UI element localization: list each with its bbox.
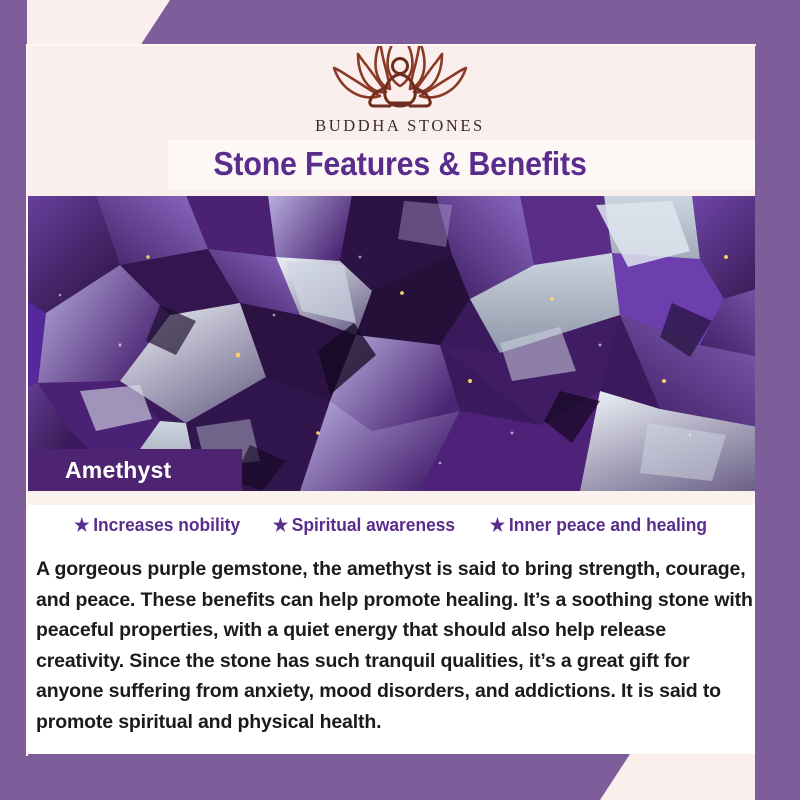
frame-right-band xyxy=(755,0,800,800)
page-title: Stone Features & Benefits xyxy=(32,139,768,189)
frame-bottom-band xyxy=(0,754,800,800)
star-icon: ★ xyxy=(273,516,288,534)
stone-name-label: Amethyst xyxy=(65,457,171,484)
benefits-list: ★ Increases nobility ★ Spiritual awarene… xyxy=(27,514,756,536)
benefit-label: Inner peace and healing xyxy=(509,514,707,536)
benefit-item: ★ Inner peace and healing xyxy=(490,514,707,536)
benefit-label: Increases nobility xyxy=(93,514,240,536)
stone-info-card: BUDDHA STONES Stone Features & Benefits … xyxy=(0,0,800,800)
amethyst-crystal-cluster-photo xyxy=(0,195,800,491)
benefit-item: ★ Increases nobility xyxy=(74,514,240,536)
panel-top-fade xyxy=(27,491,756,505)
stone-description-panel: ★ Increases nobility ★ Spiritual awarene… xyxy=(27,491,756,754)
brand-name: BUDDHA STONES xyxy=(315,116,485,136)
stone-description-text: A gorgeous purple gemstone, the amethyst… xyxy=(36,554,754,737)
stone-name-banner: Amethyst xyxy=(21,449,242,491)
frame-left-band xyxy=(0,0,27,800)
benefit-item: ★ Spiritual awareness xyxy=(273,514,455,536)
star-icon: ★ xyxy=(74,516,89,534)
star-icon: ★ xyxy=(490,516,505,534)
benefit-label: Spiritual awareness xyxy=(292,514,455,536)
